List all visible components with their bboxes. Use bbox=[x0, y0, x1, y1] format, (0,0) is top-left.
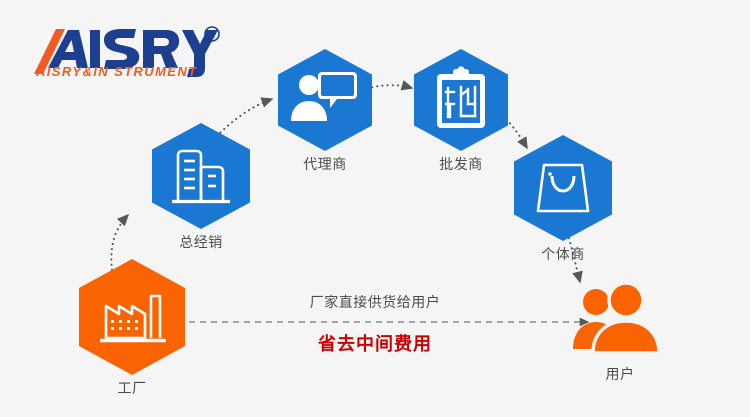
retailer-hexagon bbox=[513, 134, 613, 242]
node-label-factory: 工厂 bbox=[72, 378, 192, 398]
caption-savings: 省去中间费用 bbox=[318, 330, 432, 356]
node-wholesaler[interactable]: 批发商 bbox=[409, 48, 513, 174]
users-icon bbox=[565, 275, 675, 357]
node-customer[interactable]: 用户 bbox=[565, 275, 675, 384]
node-label-retailer: 个体商 bbox=[509, 244, 617, 264]
factory-hexagon bbox=[78, 258, 186, 376]
node-agent[interactable]: 代理商 bbox=[273, 48, 377, 174]
clipboard-pi-icon bbox=[437, 66, 485, 128]
node-label-distributor: 总经销 bbox=[146, 232, 256, 252]
diagram-canvas: R AISRY&IN STRUMENT bbox=[0, 0, 750, 417]
node-label-agent: 代理商 bbox=[273, 154, 377, 174]
node-distributor[interactable]: 总经销 bbox=[146, 122, 256, 252]
node-label-wholesaler: 批发商 bbox=[409, 154, 513, 174]
wholesaler-hexagon bbox=[413, 48, 509, 152]
node-label-customer: 用户 bbox=[565, 364, 675, 384]
node-retailer[interactable]: 个体商 bbox=[509, 134, 617, 264]
node-factory[interactable]: 工厂 bbox=[72, 258, 192, 398]
distributor-hexagon bbox=[151, 122, 251, 230]
chat-bubble-inner bbox=[321, 75, 354, 96]
agent-hexagon bbox=[277, 48, 373, 152]
caption-direct-supply: 厂家直接供货给用户 bbox=[310, 292, 441, 312]
